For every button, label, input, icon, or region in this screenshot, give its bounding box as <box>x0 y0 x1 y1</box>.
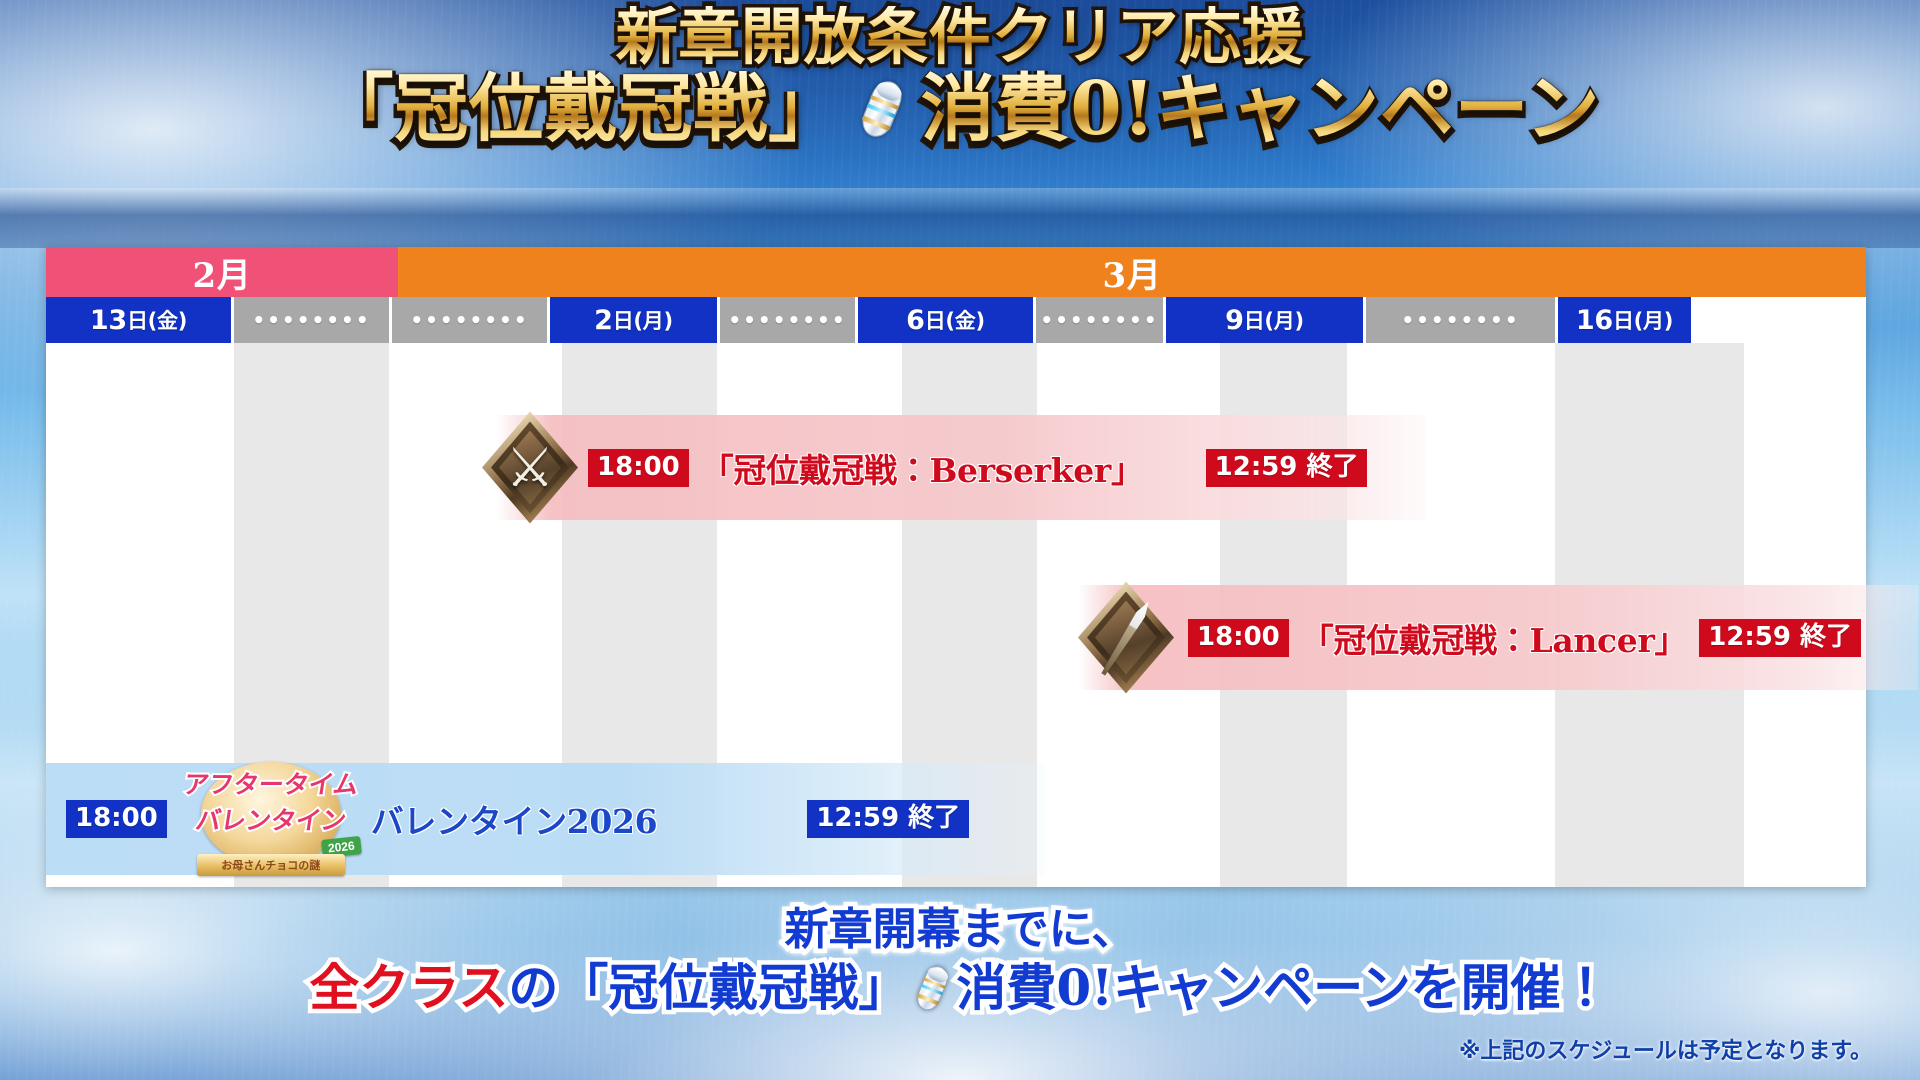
event-end-badge: 12:59 終了 <box>1699 619 1861 657</box>
bottom-line-2-highlight: 全クラス <box>309 959 508 1016</box>
schedule-disclaimer: ※上記のスケジュールは予定となります。 <box>1459 1033 1872 1065</box>
title-line-1: 新章開放条件クリア応援 新章開放条件クリア応援 <box>0 6 1920 68</box>
month-label: 2月 <box>192 248 251 297</box>
day-header-mar-2: 2日(月) <box>550 297 717 343</box>
header-band <box>0 188 1920 248</box>
saint-quartz-token-icon <box>902 955 962 1020</box>
day-number: 16 <box>1576 305 1613 336</box>
class-mark-berserker-icon: ⚔ <box>482 412 578 524</box>
day-header-gap-5: •••••••• <box>1366 297 1555 343</box>
day-header-mar-16: 16日(月) <box>1558 297 1691 343</box>
event-row-lancer[interactable]: 18:00 「冠位戴冠戦：Lancer」 12:59 終了 <box>1078 585 1918 690</box>
day-header-mar-6: 6日(金) <box>858 297 1033 343</box>
bottom-line-2-tail: 消費0!キャンペーンを開催！ <box>956 959 1610 1016</box>
month-cell-march: 3月 <box>398 247 1866 297</box>
day-number: 13 <box>90 305 127 336</box>
event-end-badge: 12:59 終了 <box>807 800 969 838</box>
banner-title: 新章開放条件クリア応援 新章開放条件クリア応援 「冠位戴冠戦」 「冠位戴冠戦」 … <box>0 6 1920 146</box>
event-start-badge: 18:00 <box>66 800 167 838</box>
class-mark-lancer-icon <box>1078 582 1174 694</box>
event-title: 「冠位戴冠戦：Lancer」 <box>1301 614 1687 662</box>
valentine-logo-line2: バレンタイン <box>173 808 369 833</box>
day-suffix: 日(月) <box>1613 305 1673 335</box>
month-label: 3月 <box>1102 248 1161 297</box>
day-number: 9 <box>1225 305 1244 336</box>
event-title: バレンタイン2026 <box>371 795 658 843</box>
saint-quartz-token-icon <box>842 68 921 151</box>
bottom-line-1: 新章開幕までに、 <box>0 905 1920 955</box>
day-suffix: 日(金) <box>925 305 985 335</box>
event-end-badge: 12:59 終了 <box>1206 449 1368 487</box>
day-number: 2 <box>594 305 613 336</box>
bottom-line-2: 全クラス の「冠位戴冠戦」 消費0!キャンペーンを開催！ <box>0 959 1920 1016</box>
day-header-gap-4: •••••••• <box>1036 297 1163 343</box>
event-row-valentine[interactable]: 18:00 アフタータイム バレンタイン 2026 お母さんチョコの謎 バレンタ… <box>46 763 1046 875</box>
day-header-gap-3: •••••••• <box>720 297 855 343</box>
event-start-badge: 18:00 <box>588 449 689 487</box>
calendar-day-header: 13日(金) •••••••• •••••••• 2日(月) •••••••• … <box>46 297 1866 343</box>
day-header-gap-1: •••••••• <box>234 297 389 343</box>
event-start-badge: 18:00 <box>1188 619 1289 657</box>
schedule-calendar: 2月 3月 13日(金) •••••••• •••••••• 2日(月) •••… <box>46 247 1866 887</box>
bottom-copy: 新章開幕までに、 全クラス の「冠位戴冠戦」 消費0!キャンペーンを開催！ <box>0 905 1920 1016</box>
title-line-1-text: 新章開放条件クリア応援 <box>0 6 1920 68</box>
day-suffix: 日(金) <box>127 305 187 335</box>
day-suffix: 日(月) <box>613 305 673 335</box>
day-header-mar-9: 9日(月) <box>1166 297 1363 343</box>
valentine-logo-line1: アフタータイム <box>173 772 369 797</box>
day-header-gap-2: •••••••• <box>392 297 547 343</box>
calendar-grid: ⚔ 18:00 「冠位戴冠戦：Berserker」 12:59 終了 18:00… <box>46 343 1866 887</box>
calendar-month-header: 2月 3月 <box>46 247 1866 297</box>
event-row-berserker[interactable]: ⚔ 18:00 「冠位戴冠戦：Berserker」 12:59 終了 <box>496 415 1426 520</box>
title-line-2: 「冠位戴冠戦」 「冠位戴冠戦」 消費0!キャンペーン 消費0!キャンペーン <box>0 72 1920 146</box>
bottom-line-2-mid: の「冠位戴冠戦」 <box>508 959 908 1016</box>
title-line-2-post: 消費0!キャンペーン <box>921 66 1601 152</box>
valentine-2026-logo-icon: アフタータイム バレンタイン 2026 お母さんチョコの謎 <box>175 760 367 878</box>
event-title: 「冠位戴冠戦：Berserker」 <box>701 444 1144 492</box>
title-line-2-pre: 「冠位戴冠戦」 <box>320 66 843 152</box>
month-cell-february: 2月 <box>46 247 398 297</box>
day-number: 6 <box>906 305 925 336</box>
valentine-logo-ribbon: お母さんチョコの謎 <box>221 857 320 873</box>
day-suffix: 日(月) <box>1244 305 1304 335</box>
day-header-13: 13日(金) <box>46 297 231 343</box>
